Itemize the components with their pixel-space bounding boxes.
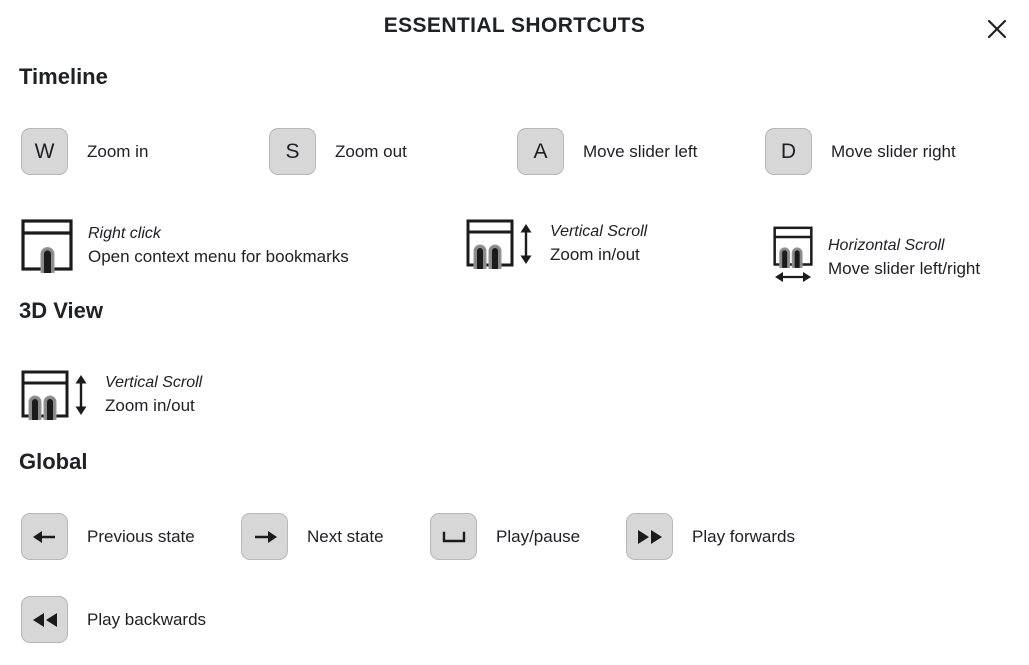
shortcut-global-play-backwards[interactable]: Play backwards	[21, 596, 206, 643]
mouse-vertical-scroll-icon	[466, 219, 535, 269]
arrow-left-icon	[32, 527, 58, 547]
shortcut-label: Previous state	[87, 527, 195, 547]
shortcut-text: Horizontal Scroll Move slider left/right	[828, 234, 980, 282]
vertical-double-arrow-icon	[517, 223, 535, 265]
section-title-timeline: Timeline	[19, 64, 108, 90]
mouse-right-click-icon	[21, 219, 73, 273]
shortcut-timeline-vertical-scroll[interactable]: Vertical Scroll Zoom in/out	[466, 219, 647, 269]
keycap-arrow-left[interactable]	[21, 513, 68, 560]
mouse-body-icon	[466, 219, 514, 269]
mouse-action-label: Right click	[88, 222, 349, 245]
shortcut-label: Move slider left	[583, 142, 697, 162]
shortcut-timeline-move-slider-left[interactable]: A Move slider left	[517, 128, 697, 175]
shortcut-label: Zoom out	[335, 142, 407, 162]
shortcut-label: Next state	[307, 527, 384, 547]
mouse-desc-label: Zoom in/out	[550, 243, 647, 268]
shortcut-3dview-vertical-scroll[interactable]: Vertical Scroll Zoom in/out	[21, 370, 202, 420]
mouse-body-icon	[21, 219, 73, 273]
shortcut-global-next-state[interactable]: Next state	[241, 513, 384, 560]
close-button[interactable]	[981, 13, 1013, 45]
keycap-fast-forward[interactable]	[626, 513, 673, 560]
shortcut-global-previous-state[interactable]: Previous state	[21, 513, 195, 560]
shortcut-timeline-move-slider-right[interactable]: D Move slider right	[765, 128, 956, 175]
shortcut-label: Play forwards	[692, 527, 795, 547]
shortcut-timeline-zoom-out[interactable]: S Zoom out	[269, 128, 407, 175]
mouse-desc-label: Open context menu for bookmarks	[88, 245, 349, 270]
fast-forward-icon	[636, 528, 664, 546]
shortcut-timeline-right-click[interactable]: Right click Open context menu for bookma…	[21, 219, 349, 273]
close-icon	[986, 18, 1008, 40]
spacebar-icon	[441, 529, 467, 545]
mouse-desc-label: Zoom in/out	[105, 394, 202, 419]
keycap-rewind[interactable]	[21, 596, 68, 643]
shortcut-text: Right click Open context menu for bookma…	[88, 222, 349, 270]
arrow-right-icon	[252, 527, 278, 547]
vertical-double-arrow-icon	[72, 374, 90, 416]
mouse-horizontal-scroll-icon	[773, 226, 813, 290]
shortcut-text: Vertical Scroll Zoom in/out	[550, 220, 647, 268]
shortcut-timeline-zoom-in[interactable]: W Zoom in	[21, 128, 148, 175]
shortcut-label: Play backwards	[87, 610, 206, 630]
section-title-3d-view: 3D View	[19, 298, 103, 324]
section-title-global: Global	[19, 449, 87, 475]
shortcut-global-play-pause[interactable]: Play/pause	[430, 513, 580, 560]
mouse-action-label: Horizontal Scroll	[828, 234, 980, 257]
keycap-spacebar[interactable]	[430, 513, 477, 560]
shortcut-label: Zoom in	[87, 142, 148, 162]
shortcut-global-play-forwards[interactable]: Play forwards	[626, 513, 795, 560]
rewind-icon	[31, 611, 59, 629]
mouse-desc-label: Move slider left/right	[828, 257, 980, 282]
shortcut-timeline-horizontal-scroll[interactable]: Horizontal Scroll Move slider left/right	[773, 226, 980, 290]
keycap-d[interactable]: D	[765, 128, 812, 175]
keycap-arrow-right[interactable]	[241, 513, 288, 560]
shortcut-label: Play/pause	[496, 527, 580, 547]
keycap-w[interactable]: W	[21, 128, 68, 175]
mouse-body-icon	[21, 370, 69, 420]
mouse-body-icon	[773, 226, 813, 268]
shortcut-text: Vertical Scroll Zoom in/out	[105, 371, 202, 419]
keycap-s[interactable]: S	[269, 128, 316, 175]
keycap-a[interactable]: A	[517, 128, 564, 175]
horizontal-double-arrow-icon	[774, 269, 812, 290]
mouse-vertical-scroll-icon	[21, 370, 90, 420]
mouse-action-label: Vertical Scroll	[105, 371, 202, 394]
page-title: ESSENTIAL SHORTCUTS	[0, 14, 1029, 38]
mouse-action-label: Vertical Scroll	[550, 220, 647, 243]
shortcut-label: Move slider right	[831, 142, 956, 162]
